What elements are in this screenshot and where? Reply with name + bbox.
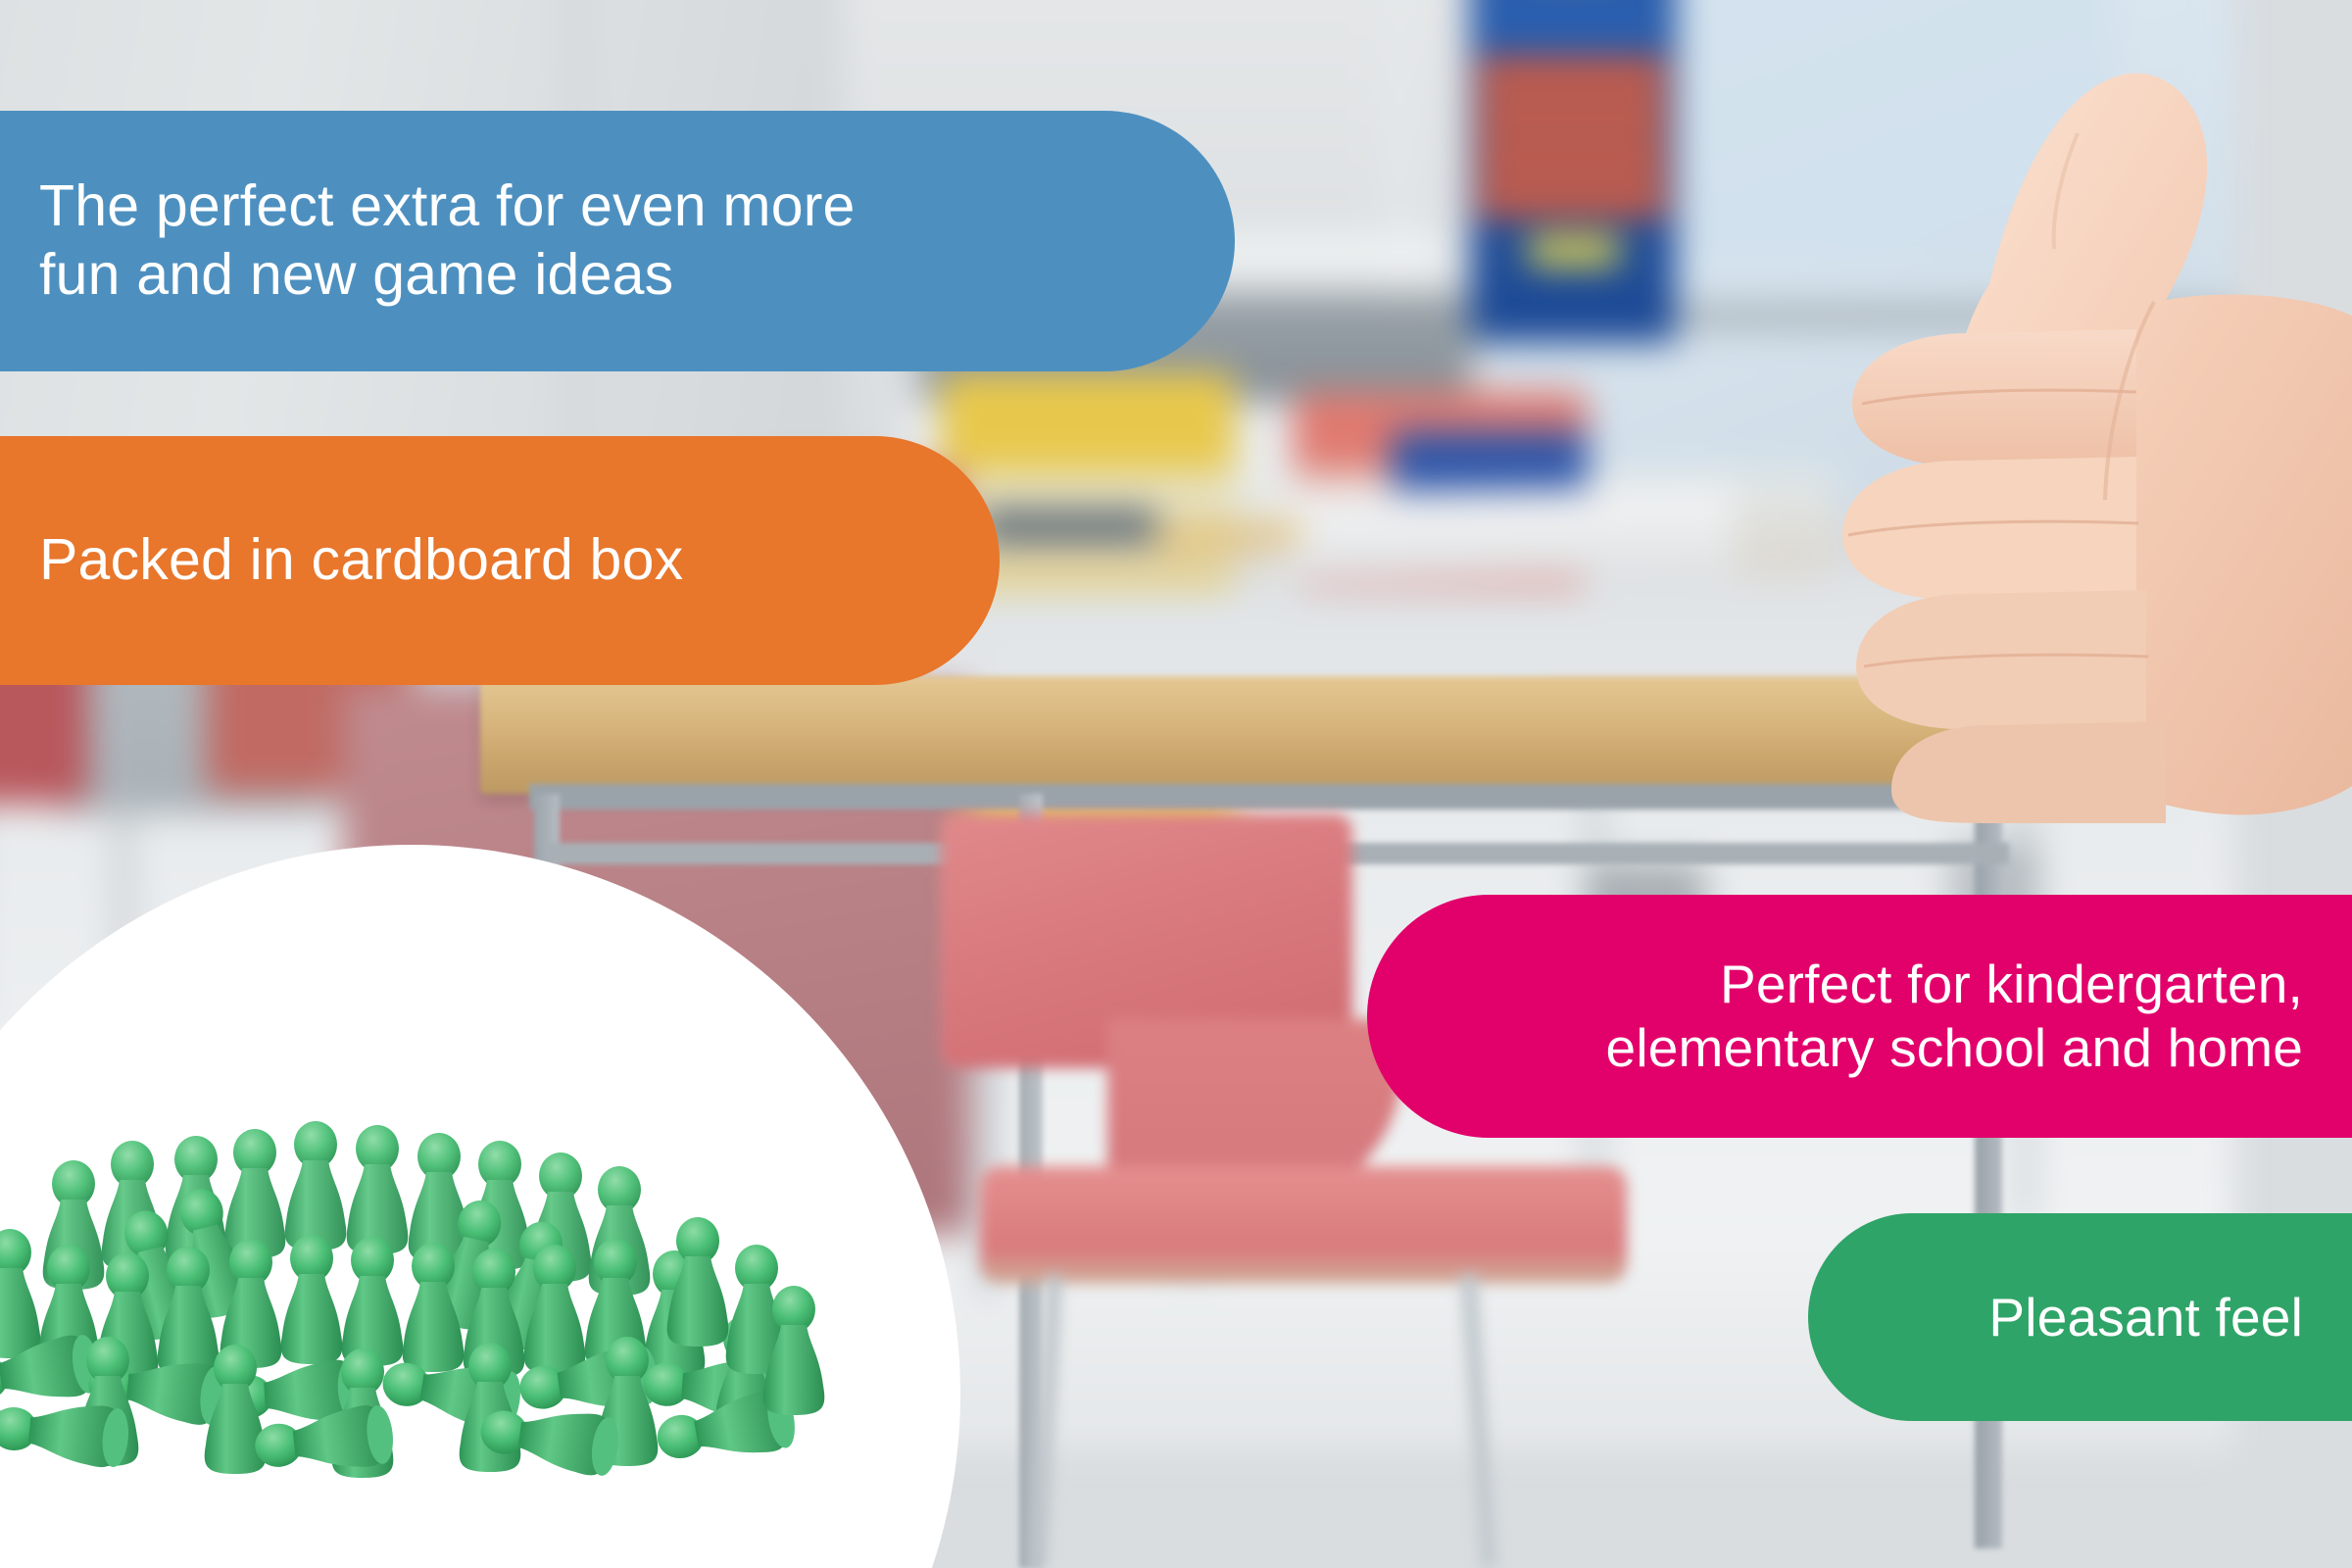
pink-chair-leg-2 <box>1460 1274 1498 1568</box>
banner-pink-text: Perfect for kindergarten, elementary sch… <box>1606 953 2303 1080</box>
banner-pink-line-1: Perfect for kindergarten, <box>1606 953 2303 1016</box>
banner-blue-text: The perfect extra for even more fun and … <box>39 172 856 309</box>
promo-banner-canvas: The perfect extra for even more fun and … <box>0 0 2352 1568</box>
banner-blue-line-1: The perfect extra for even more <box>39 172 856 241</box>
banner-green-line-1: Pleasant feel <box>1988 1286 2303 1349</box>
green-pawn-pile <box>0 1109 843 1521</box>
pink-chair-seat <box>980 1166 1627 1284</box>
banner-orange[interactable]: Packed in cardboard box <box>0 436 1000 685</box>
banner-pink-line-2: elementary school and home <box>1606 1016 2303 1080</box>
banner-orange-line-1: Packed in cardboard box <box>39 526 683 595</box>
banner-orange-text: Packed in cardboard box <box>39 526 683 595</box>
banner-pink[interactable]: Perfect for kindergarten, elementary sch… <box>1367 895 2352 1138</box>
banner-blue[interactable]: The perfect extra for even more fun and … <box>0 111 1235 371</box>
pink-chair-leg-1 <box>1031 1274 1062 1568</box>
banner-blue-line-2: fun and new game ideas <box>39 241 856 310</box>
banner-green-text: Pleasant feel <box>1988 1286 2303 1349</box>
banner-green[interactable]: Pleasant feel <box>1808 1213 2352 1421</box>
thumbs-up-hand-icon <box>1842 39 2352 823</box>
